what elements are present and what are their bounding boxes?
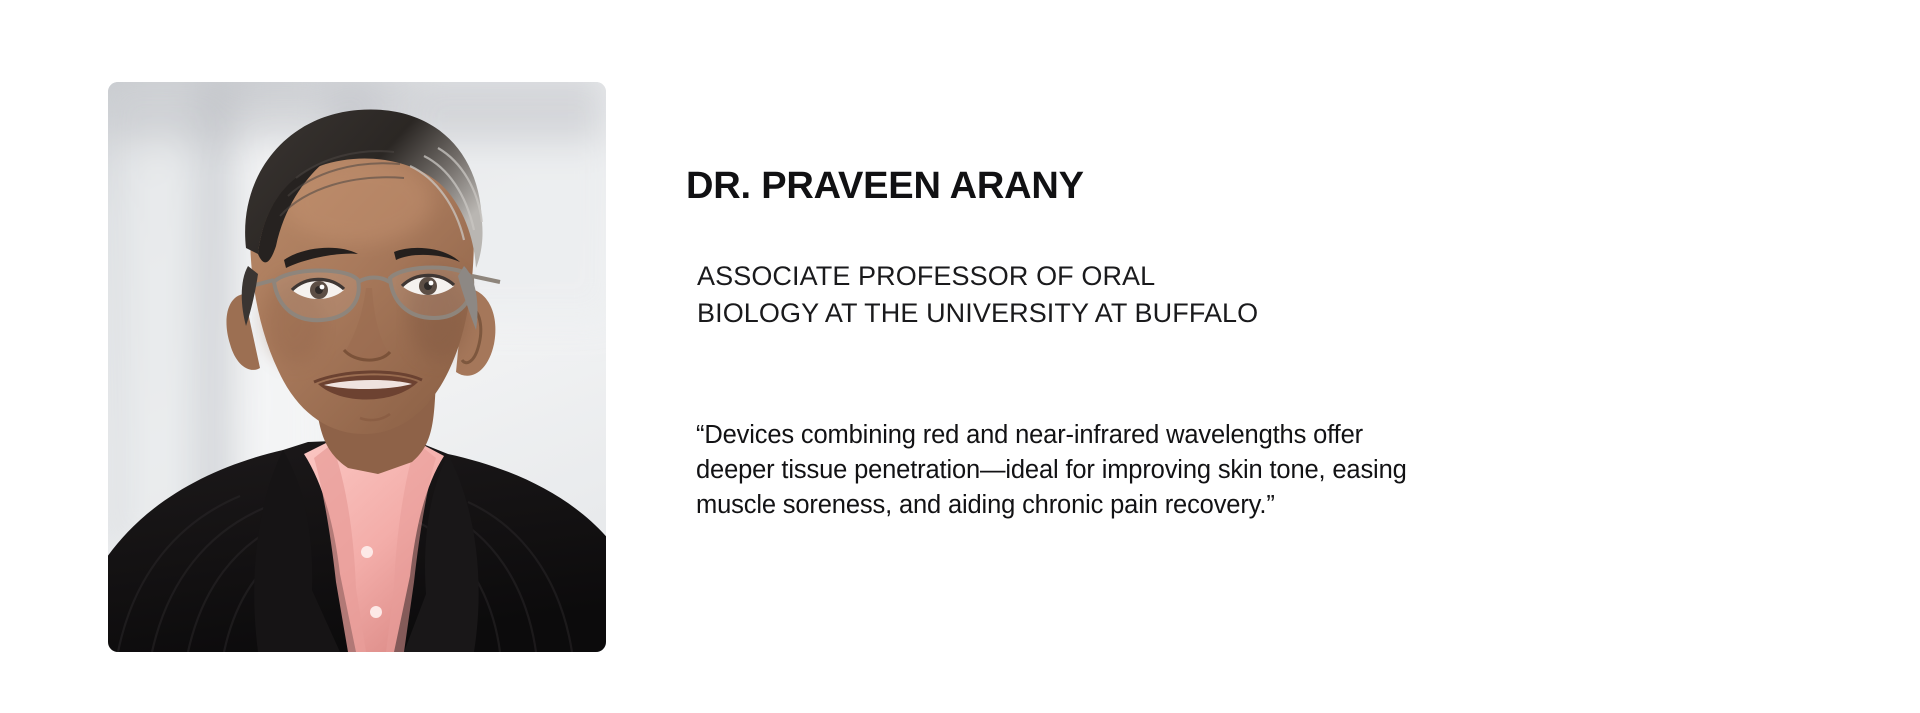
expert-quote-card: DR. PRAVEEN ARANY ASSOCIATE PROFESSOR OF… [0,0,1920,713]
expert-text-column: DR. PRAVEEN ARANY ASSOCIATE PROFESSOR OF… [686,0,1836,713]
expert-quote-line-1: “Devices combining red and near-infrared… [696,418,1407,453]
expert-portrait-photo [108,82,606,652]
expert-quote: “Devices combining red and near-infrared… [696,418,1407,523]
shirt-button [370,606,382,618]
expert-name: DR. PRAVEEN ARANY [686,163,1084,209]
expert-quote-line-3: muscle soreness, and aiding chronic pain… [696,488,1407,523]
expert-quote-line-2: deeper tissue penetration—ideal for impr… [696,453,1407,488]
expert-title-line-2: BIOLOGY AT THE UNIVERSITY AT BUFFALO [697,295,1258,332]
portrait-illustration [108,82,606,652]
expert-title-line-1: ASSOCIATE PROFESSOR OF ORAL [697,258,1258,295]
expert-title: ASSOCIATE PROFESSOR OF ORAL BIOLOGY AT T… [697,258,1258,332]
shirt-button [361,546,373,558]
